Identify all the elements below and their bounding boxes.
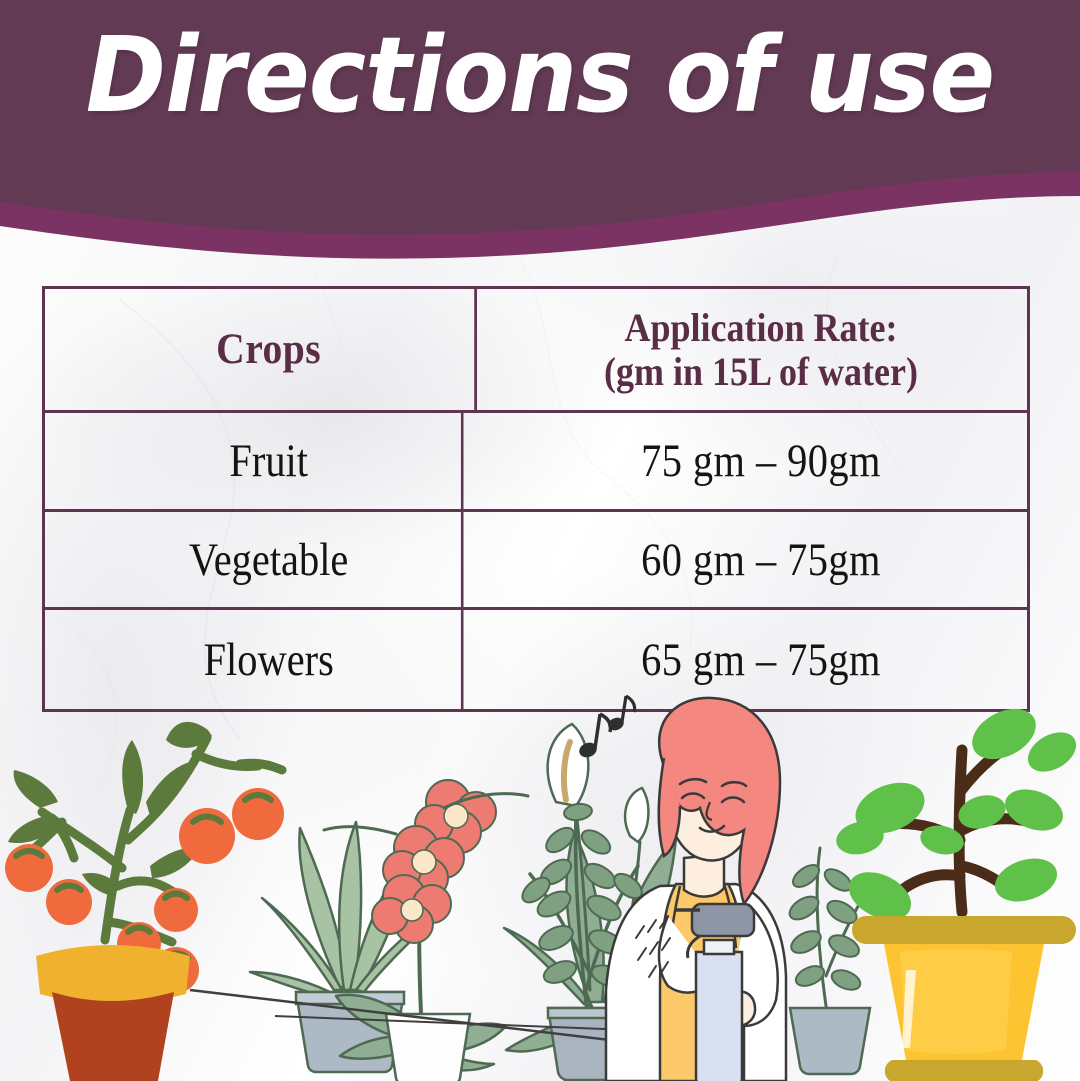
tomato-fruit bbox=[5, 844, 53, 892]
table-row: Fruit 75 gm – 90gm bbox=[45, 413, 1027, 512]
application-rate-line2: (gm in 15L of water) bbox=[604, 350, 918, 393]
crop-rate: 75 gm – 90gm bbox=[532, 413, 990, 509]
tomato-plant-in-terracotta-pot bbox=[5, 722, 284, 1081]
music-notes bbox=[577, 696, 635, 760]
tomato-fruit bbox=[232, 788, 284, 840]
crop-rate: 60 gm – 75gm bbox=[532, 512, 990, 608]
plants-illustration bbox=[0, 690, 1080, 1081]
tomato-fruit bbox=[154, 888, 198, 932]
column-header-application-rate: Application Rate: (gm in 15L of water) bbox=[522, 289, 1001, 410]
application-rate-table: Crops Application Rate: (gm in 15L of wa… bbox=[42, 286, 1030, 712]
page-title: Directions of use bbox=[38, 14, 1042, 137]
table-header-row: Crops Application Rate: (gm in 15L of wa… bbox=[45, 289, 1027, 413]
terracotta-pot bbox=[36, 945, 190, 1081]
sapling-in-yellow-pot bbox=[833, 699, 1080, 1081]
crop-name: Vegetable bbox=[77, 512, 464, 608]
table-row: Vegetable 60 gm – 75gm bbox=[45, 512, 1027, 611]
tomato-fruit bbox=[46, 879, 92, 925]
header-banner: Directions of use bbox=[0, 0, 1080, 260]
grey-pot bbox=[790, 1008, 870, 1074]
application-rate-line1: Application Rate: bbox=[624, 305, 897, 350]
orchid-blossoms bbox=[372, 780, 496, 943]
crop-name: Fruit bbox=[77, 413, 464, 509]
yellow-pot bbox=[852, 916, 1076, 1081]
column-header-crops: Crops bbox=[63, 289, 477, 410]
tomato-fruit bbox=[179, 808, 235, 864]
poster-canvas: Directions of use Crops Application Rate… bbox=[0, 0, 1080, 1081]
